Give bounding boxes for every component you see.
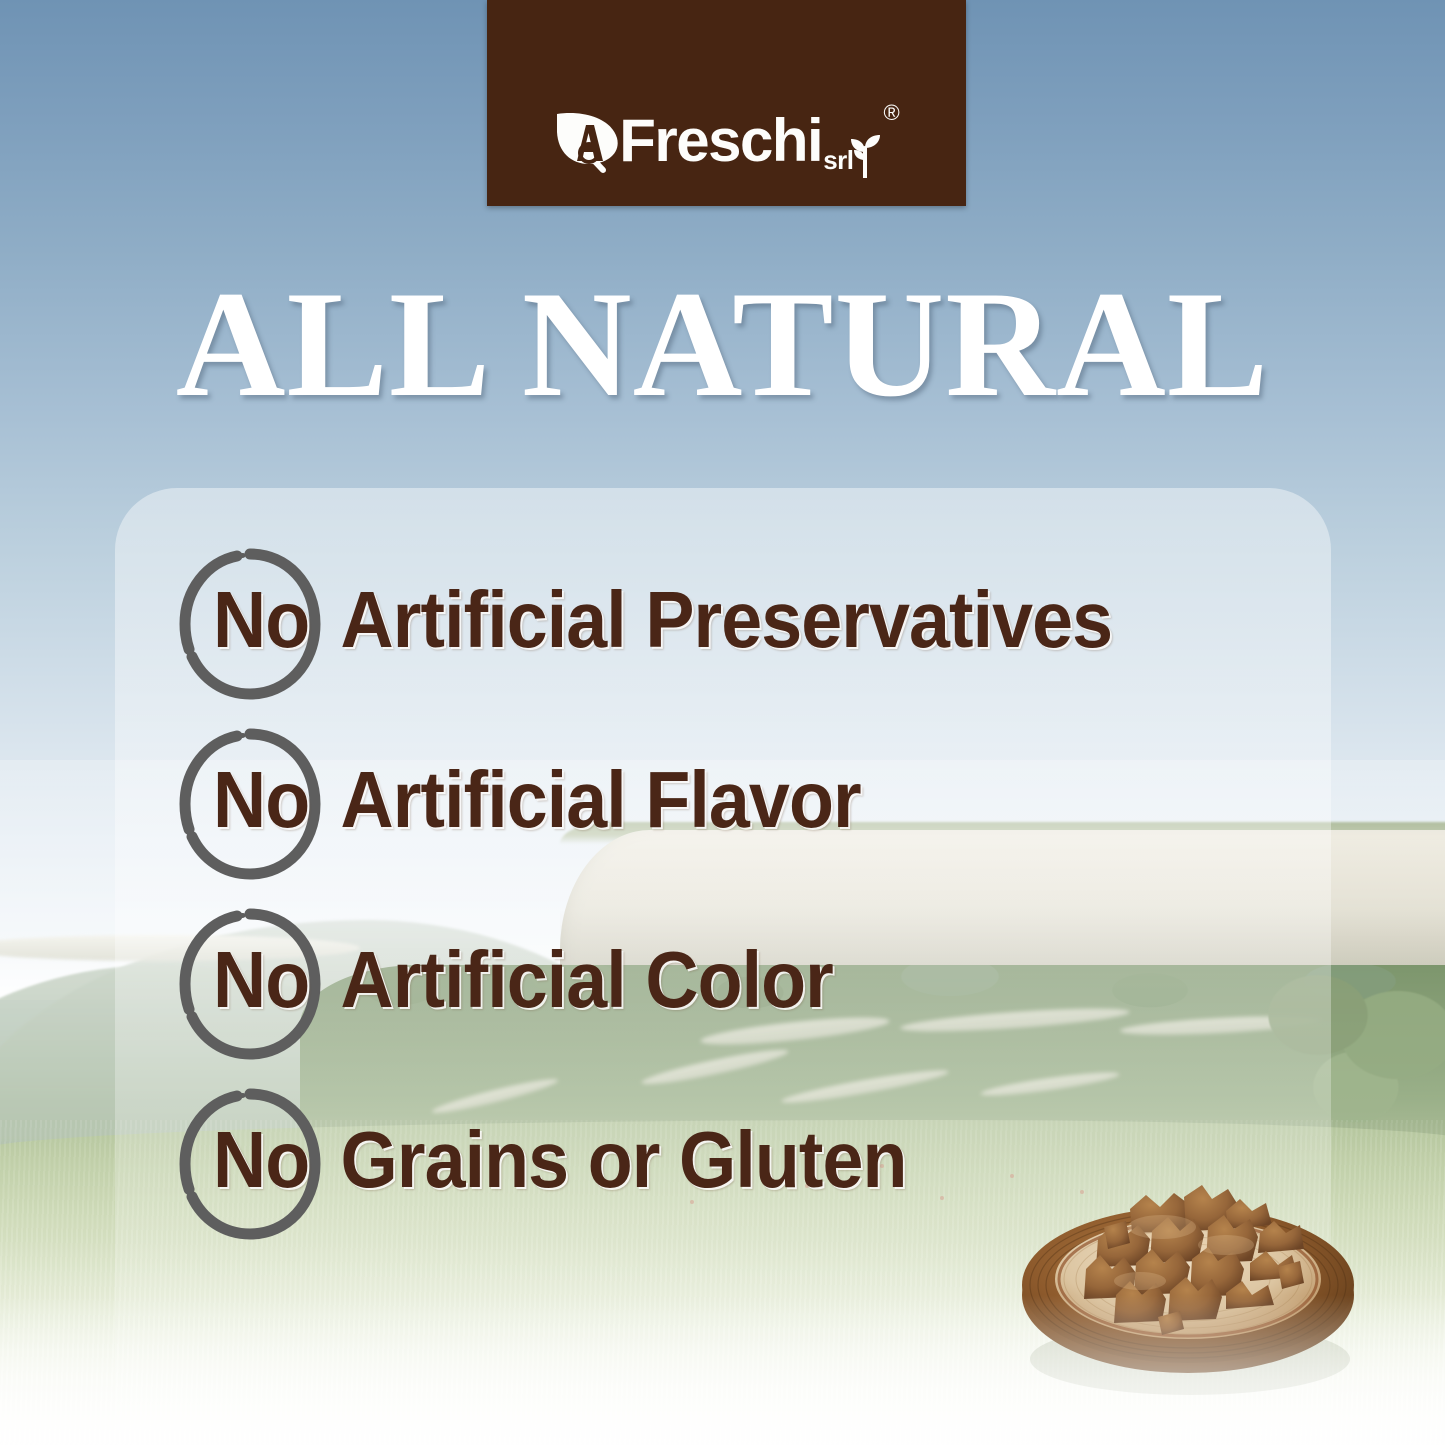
- claim-label: Artificial Preservatives: [341, 575, 1113, 664]
- claim-label: Artificial Flavor: [341, 755, 861, 844]
- sprout-icon: [848, 132, 882, 178]
- list-item-label: NoArtificial Flavor: [213, 752, 861, 848]
- brand-name: Freschi: [619, 111, 822, 171]
- claim-label: Artificial Color: [341, 935, 833, 1024]
- claim-prefix: No: [213, 935, 309, 1024]
- claim-prefix: No: [213, 575, 309, 664]
- list-item-label: NoGrains or Gluten: [213, 1112, 907, 1208]
- claim-label: Grains or Gluten: [341, 1115, 907, 1204]
- page-title: ALL NATURAL: [0, 268, 1445, 420]
- brand-logo: Freschi srl ®: [487, 104, 966, 178]
- list-item-label: NoArtificial Color: [213, 932, 833, 1028]
- list-item: NoArtificial Preservatives: [175, 540, 1375, 720]
- list-item: NoArtificial Color: [175, 900, 1375, 1080]
- claim-prefix: No: [213, 755, 309, 844]
- registered-trademark-icon: ®: [884, 100, 900, 126]
- poster-root: Freschi srl ® ALL NATURAL: [0, 0, 1445, 1445]
- claim-prefix: No: [213, 1115, 309, 1204]
- leaf-with-a-icon: [553, 108, 623, 174]
- list-item: NoArtificial Flavor: [175, 720, 1375, 900]
- list-item-label: NoArtificial Preservatives: [213, 572, 1112, 668]
- product-image-plate-of-treats: [1012, 1135, 1372, 1403]
- brand-logo-box: Freschi srl ®: [487, 0, 966, 206]
